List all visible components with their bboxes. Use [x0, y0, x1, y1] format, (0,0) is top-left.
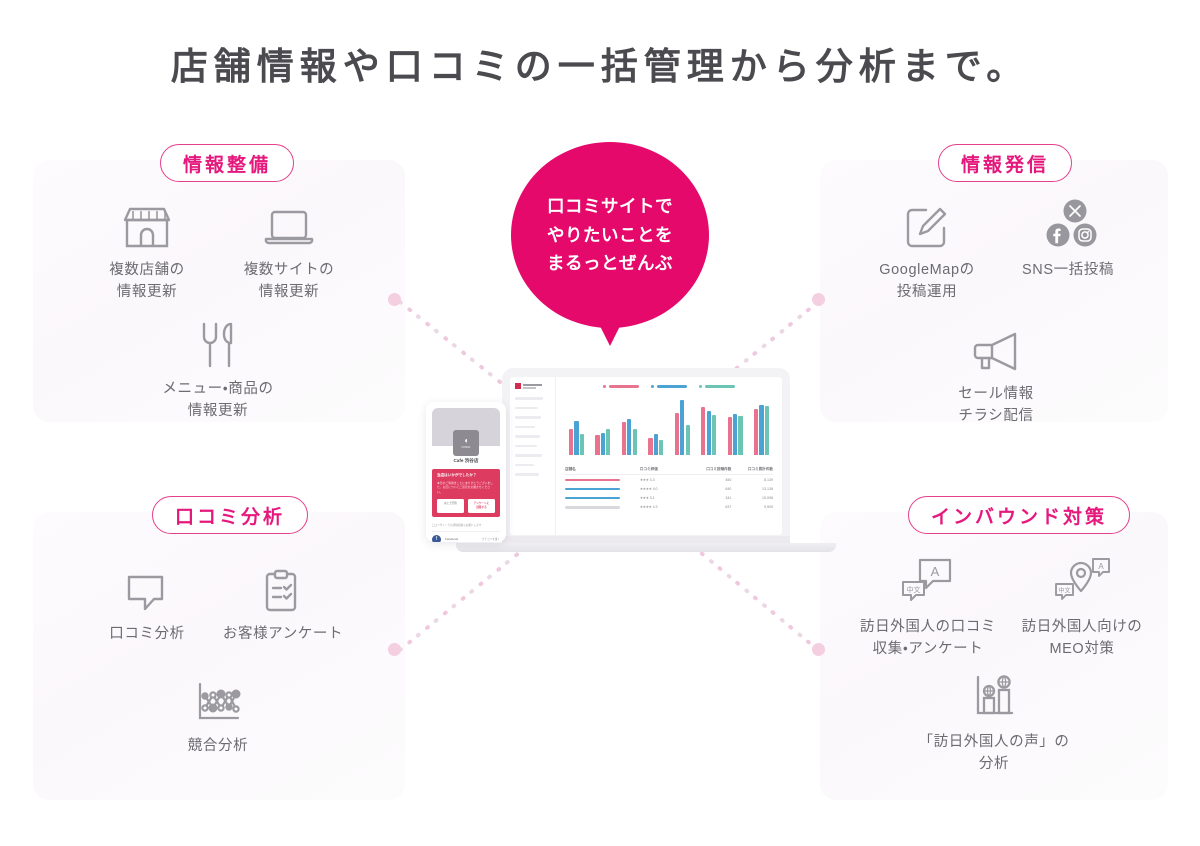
sidebar-nav-item[interactable]: [515, 464, 534, 467]
center-bubble: 口コミサイトで やりたいことを まるっとぜんぶ: [511, 142, 709, 357]
device-mockup: 店舗名 口コミ評価 口コミ投稿件数 口コミ累計件数 ★★★ 3.3 450 8,…: [418, 360, 808, 575]
feature-label: 複数サイトの 情報更新: [204, 259, 374, 304]
rating-value: 3.3: [650, 478, 655, 482]
svg-text:中文: 中文: [907, 585, 921, 594]
feature-competitor-analysis[interactable]: 競合分析: [133, 672, 303, 757]
total-value: 15,098: [731, 496, 773, 500]
rating-value: 3.1: [650, 496, 655, 500]
badge-review-analysis[interactable]: 口コミ分析: [152, 496, 308, 534]
chart-legend: [565, 385, 773, 388]
share-note: 口コミサイトでの評価投稿もお願いします: [432, 523, 500, 527]
legend-item: [603, 385, 639, 388]
feature-customer-survey[interactable]: お客様アンケート: [198, 560, 368, 645]
posts-value: 450: [690, 478, 732, 482]
feature-multi-site-update[interactable]: 複数サイトの 情報更新: [204, 196, 374, 304]
rating-stars: ★★★: [640, 496, 649, 500]
table-row[interactable]: ★★★ 3.3 450 8,139: [565, 475, 773, 484]
column-header-total: 口コミ累計件数: [731, 467, 773, 472]
feature-foreign-voice-analysis[interactable]: 「訪日外国人の声」の 分析: [894, 668, 1094, 776]
posts-value: 640: [690, 487, 732, 491]
feature-label: お客様アンケート: [198, 623, 368, 645]
badge-info-maintenance[interactable]: 情報整備: [160, 144, 294, 182]
laptop-icon: [204, 196, 374, 250]
badge-label: 口コミ分析: [175, 502, 285, 529]
sidebar-nav-item[interactable]: [515, 407, 538, 410]
table-header-row: 店舗名 口コミ評価 口コミ投稿件数 口コミ累計件数: [565, 464, 773, 475]
legend-item: [699, 385, 735, 388]
rating-stars: ★★★★: [640, 505, 652, 509]
feature-label: セール情報 チラシ配信: [911, 383, 1081, 428]
svg-text:中文: 中文: [1058, 587, 1070, 595]
brand-mark-icon: [515, 383, 521, 389]
dashboard-main: 店舗名 口コミ評価 口コミ投稿件数 口コミ累計件数 ★★★ 3.3 450 8,…: [556, 377, 782, 535]
survey-answer-button[interactable]: アンケートに 回答する: [468, 499, 495, 512]
badge-label: 情報発信: [961, 150, 1049, 177]
bar-group: [648, 434, 663, 455]
feature-menu-product-update[interactable]: メニュー・商品の 情報更新: [133, 315, 303, 423]
bar-group: [701, 407, 716, 455]
x-icon: [1064, 200, 1087, 223]
store-bar: [565, 497, 620, 499]
laptop-base: [456, 543, 836, 552]
megaphone-icon: [911, 320, 1081, 374]
feature-sale-flyer-delivery[interactable]: セール情報 チラシ配信: [911, 320, 1081, 428]
badge-inbound-measures[interactable]: インバウンド対策: [908, 496, 1130, 534]
sidebar-nav-item[interactable]: [515, 454, 542, 457]
table-row[interactable]: ★★★★ 4.0 640 13,138: [565, 484, 773, 493]
globe-bar-chart-icon: [894, 668, 1094, 722]
store-bar: [565, 488, 620, 490]
facebook-icon: [1047, 224, 1070, 247]
posts-value: 341: [690, 496, 732, 500]
table-row[interactable]: ★★★ 3.1 341 15,098: [565, 494, 773, 503]
posts-value: 637: [690, 505, 732, 509]
bar-group: [569, 421, 584, 455]
rating-stars: ★★★: [640, 478, 649, 482]
bar-group: [675, 400, 690, 455]
column-header-posts: 口コミ投稿件数: [690, 467, 732, 472]
survey-title: 当店はいかがでしたか？: [437, 473, 495, 478]
phone-logo: ◖ COSOL: [453, 430, 479, 456]
rating-value: 4.3: [653, 505, 658, 509]
store-bar: [565, 506, 620, 508]
feature-sns-bulk-post[interactable]: SNS一括投稿: [983, 196, 1153, 281]
column-header-store: 店舗名: [565, 467, 640, 472]
dashboard-sidebar: [510, 377, 556, 535]
badge-info-publishing[interactable]: 情報発信: [938, 144, 1072, 182]
svg-text:A: A: [1098, 562, 1104, 571]
dashboard-screen: 店舗名 口コミ評価 口コミ投稿件数 口コミ累計件数 ★★★ 3.3 450 8,…: [510, 377, 782, 535]
sidebar-nav-item[interactable]: [515, 445, 537, 448]
infographic-root: 店舗情報や口コミの一括管理から分析まで。 情報整備 情報発信 口コミ分析 インバ…: [0, 0, 1200, 846]
connector-dot-bottom-left: [388, 643, 401, 656]
badge-label: インバウンド対策: [931, 502, 1107, 529]
share-action: クチコミを書く: [482, 537, 500, 541]
sidebar-nav-item[interactable]: [515, 397, 543, 400]
column-header-rating: 口コミ評価: [640, 467, 690, 472]
bar-group: [622, 419, 637, 455]
logo-text: COSOL: [461, 446, 470, 449]
feature-label: 「訪日外国人の声」の 分析: [894, 731, 1094, 776]
center-bubble-tail: [597, 320, 623, 346]
feature-label: SNS一括投稿: [983, 259, 1153, 281]
instagram-icon: [1074, 224, 1097, 247]
phone-hero-image: ◖ COSOL: [432, 408, 500, 446]
survey-buttons: あとで回答 アンケートに 回答する: [437, 499, 495, 512]
rating-stars: ★★★★: [640, 487, 652, 491]
center-bubble-circle: 口コミサイトで やりたいことを まるっとぜんぶ: [511, 142, 709, 328]
sidebar-nav-item[interactable]: [515, 416, 541, 419]
fork-knife-icon: [133, 315, 303, 369]
table-row[interactable]: ★★★★ 4.3 637 9,909: [565, 503, 773, 512]
connector-dot-bottom-right: [812, 643, 825, 656]
map-pin-translate-icon: A 中文: [992, 553, 1172, 607]
total-value: 8,139: [731, 478, 773, 482]
facebook-icon: f: [432, 535, 441, 542]
total-value: 9,909: [731, 505, 773, 509]
line-chart-icon: [133, 672, 303, 726]
legend-item: [651, 385, 687, 388]
social-icons: [983, 196, 1153, 250]
dashboard-brand: [515, 383, 550, 389]
clipboard-check-icon: [198, 560, 368, 614]
store-bar: [565, 479, 620, 481]
bar-group: [595, 429, 610, 455]
rating-value: 4.0: [653, 487, 658, 491]
feature-label: 訪日外国人向けの MEO対策: [992, 616, 1172, 661]
badge-label: 情報整備: [183, 150, 271, 177]
sidebar-nav-item[interactable]: [515, 426, 535, 429]
logo-glyph: ◖: [464, 437, 469, 445]
phone-store-name: Cafe 渋谷店: [432, 458, 500, 464]
survey-card: 当店はいかがでしたか？ 本日のご利用まことにありがとうございました。お店について…: [432, 469, 500, 517]
bar-chart: [565, 397, 773, 455]
survey-later-button[interactable]: あとで回答: [437, 499, 464, 512]
share-name: Facebook: [445, 537, 478, 541]
connector-dot-top-right: [812, 293, 825, 306]
total-value: 13,138: [731, 487, 773, 491]
review-table: 店舗名 口コミ評価 口コミ投稿件数 口コミ累計件数 ★★★ 3.3 450 8,…: [565, 464, 773, 512]
laptop-lid: 店舗名 口コミ評価 口コミ投稿件数 口コミ累計件数 ★★★ 3.3 450 8,…: [502, 368, 790, 543]
brand-wordmark: [523, 384, 542, 389]
bar-group: [754, 405, 769, 455]
svg-text:A: A: [931, 564, 940, 579]
bar-group: [728, 414, 743, 455]
phone-mockup: ◖ COSOL Cafe 渋谷店 当店はいかがでしたか？ 本日のご利用まことにあ…: [426, 402, 506, 542]
connector-dot-top-left: [388, 293, 401, 306]
sidebar-nav-item[interactable]: [515, 435, 540, 438]
feature-label: メニュー・商品の 情報更新: [133, 378, 303, 423]
share-row-facebook[interactable]: f Facebook クチコミを書く: [432, 531, 500, 542]
feature-foreign-meo[interactable]: A 中文 訪日外国人向けの MEO対策: [992, 553, 1172, 661]
feature-label: 競合分析: [133, 735, 303, 757]
sidebar-nav-item[interactable]: [515, 473, 539, 476]
center-bubble-text: 口コミサイトで やりたいことを まるっとぜんぶ: [547, 192, 673, 277]
survey-body: 本日のご利用まことにありがとうございました。お店についてご意見をお聞かせください…: [437, 481, 495, 494]
